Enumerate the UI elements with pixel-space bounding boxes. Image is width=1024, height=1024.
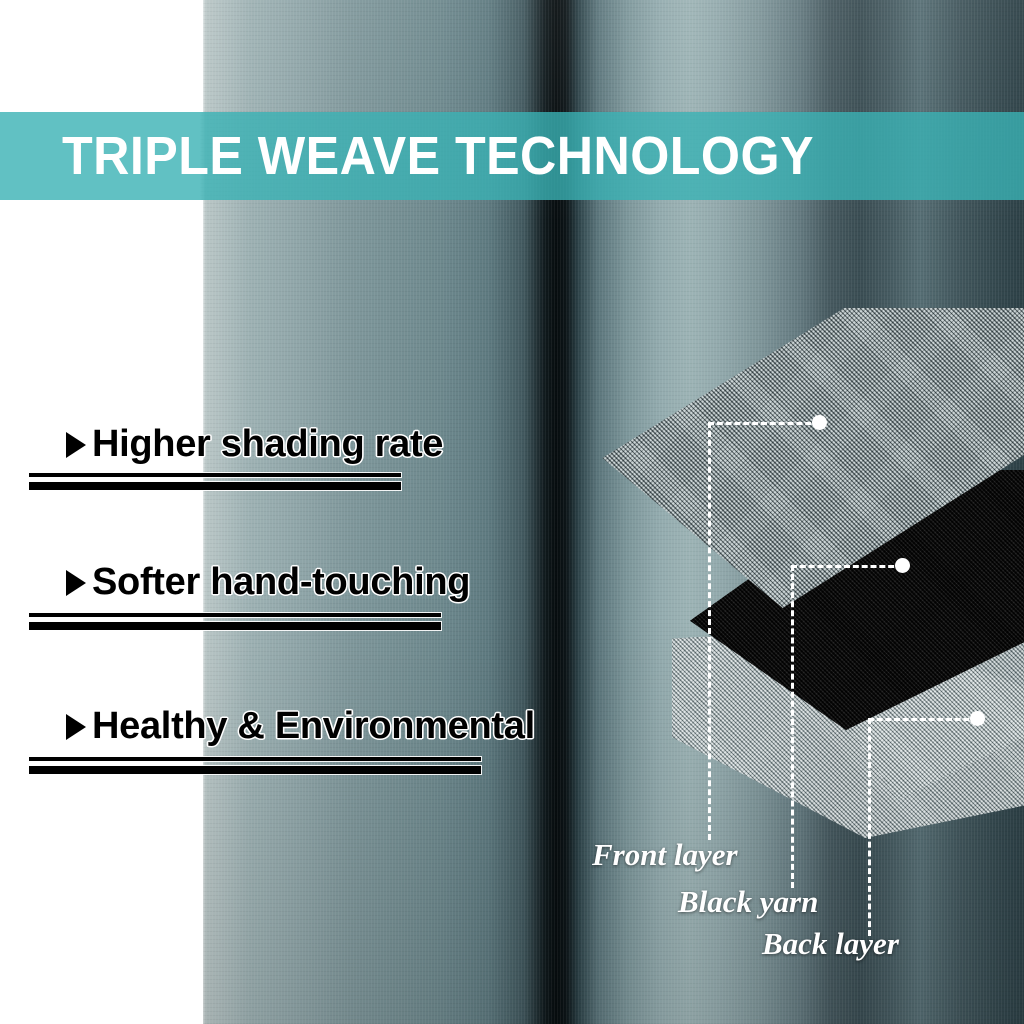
triangle-right-icon	[66, 714, 86, 740]
rule-thin	[29, 473, 401, 477]
triangle-right-icon	[66, 432, 86, 458]
feature-item-softer-hand-touching: Softer hand-touching	[66, 563, 470, 603]
feature-label: Healthy & Environmental	[92, 707, 535, 747]
triangle-right-icon	[66, 570, 86, 596]
rule-thick	[29, 622, 441, 630]
feature-item-higher-shading-rate: Higher shading rate	[66, 425, 443, 465]
rule-thin	[29, 613, 441, 617]
feature-underline-healthy-environmental	[29, 757, 481, 774]
rule-thick	[29, 766, 481, 774]
feature-underline-softer-hand-touching	[29, 613, 441, 630]
feature-item-healthy-environmental: Healthy & Environmental	[66, 707, 535, 747]
rule-thin	[29, 757, 481, 761]
feature-list: Higher shading rate Softer hand-touching…	[0, 0, 1024, 1024]
feature-label: Softer hand-touching	[92, 563, 470, 603]
feature-underline-higher-shading-rate	[29, 473, 401, 490]
product-infographic: Front layer Black yarn Back layer TRIPLE…	[0, 0, 1024, 1024]
feature-label: Higher shading rate	[92, 425, 443, 465]
rule-thick	[29, 482, 401, 490]
